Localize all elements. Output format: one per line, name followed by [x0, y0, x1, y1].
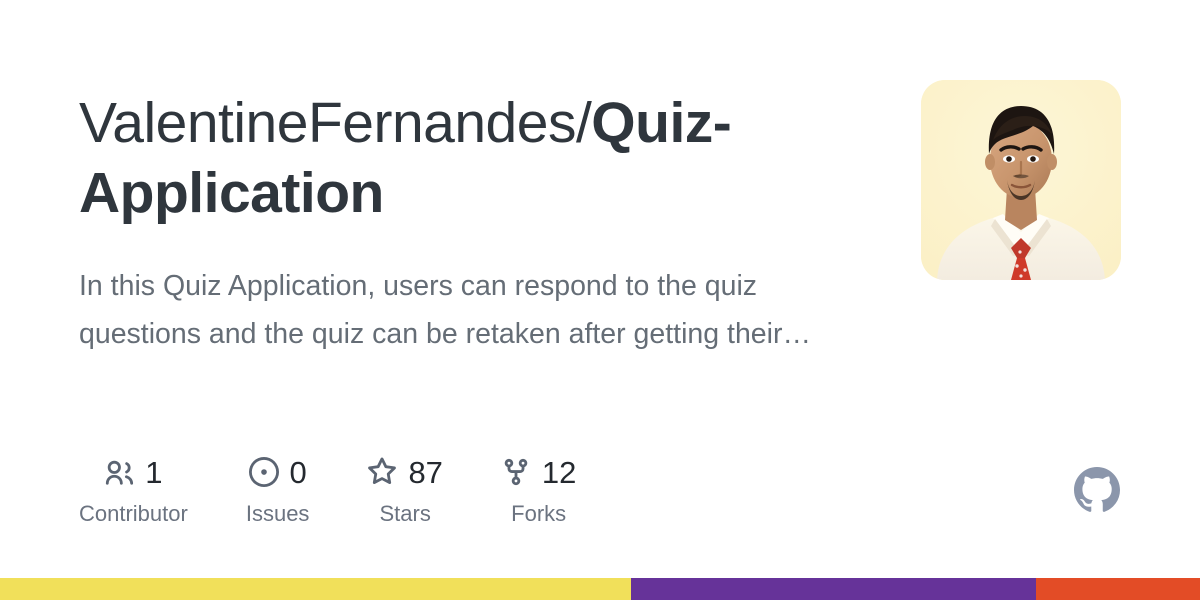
- stat-issues-top: 0: [249, 452, 307, 492]
- stat-stars-top: 87: [367, 452, 442, 492]
- stat-forks: 12 Forks: [501, 452, 576, 525]
- repository-owner: ValentineFernandes/: [79, 91, 591, 155]
- stat-stars-value: 87: [408, 457, 442, 488]
- language-bar: [0, 578, 1200, 600]
- stat-contributors: 1 Contributor: [79, 452, 188, 525]
- repository-title: ValentineFernandes/Quiz-Application: [79, 88, 869, 228]
- stat-contributors-top: 1: [104, 452, 162, 492]
- stat-contributors-label: Contributor: [79, 503, 188, 525]
- avatar-photo: [921, 80, 1121, 280]
- owner-avatar: [921, 80, 1121, 280]
- repository-social-preview-card: ValentineFernandes/Quiz-Application In t…: [0, 0, 1200, 600]
- repo-forked-icon: [501, 457, 531, 487]
- stat-stars: 87 Stars: [367, 452, 442, 525]
- language-segment-javascript: [0, 578, 631, 600]
- stat-issues-value: 0: [290, 457, 307, 488]
- issue-opened-icon: [249, 457, 279, 487]
- stat-forks-value: 12: [542, 457, 576, 488]
- language-segment-css: [631, 578, 1035, 600]
- stat-forks-top: 12: [501, 452, 576, 492]
- repository-description: In this Quiz Application, users can resp…: [79, 262, 839, 358]
- stat-stars-label: Stars: [380, 503, 431, 525]
- stat-contributors-value: 1: [145, 457, 162, 488]
- github-octocat-icon: [1074, 467, 1120, 513]
- stat-issues: 0 Issues: [246, 452, 310, 525]
- star-icon: [367, 457, 397, 487]
- repository-stats: 1 Contributor 0 Issues: [79, 452, 576, 525]
- stat-issues-label: Issues: [246, 503, 310, 525]
- language-segment-html: [1036, 578, 1200, 600]
- people-icon: [104, 457, 134, 487]
- stat-forks-label: Forks: [511, 503, 566, 525]
